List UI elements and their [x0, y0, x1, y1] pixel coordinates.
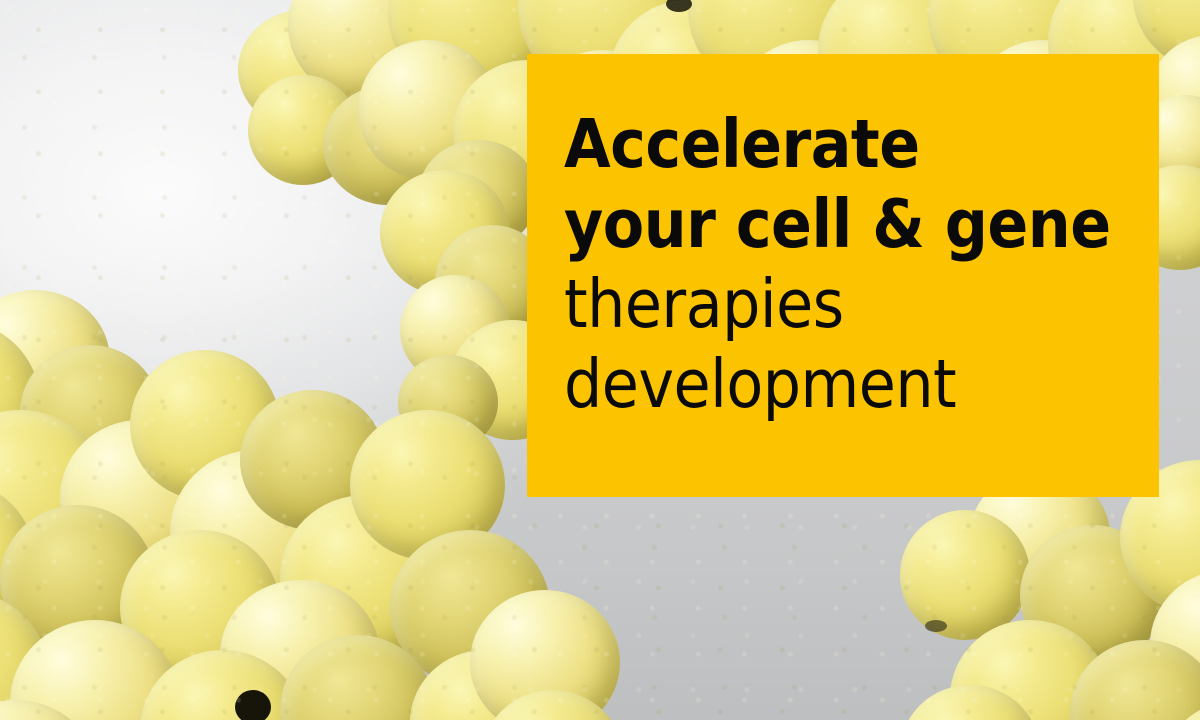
molecule-crevice — [235, 690, 271, 720]
headline-line-4: development — [564, 344, 1119, 424]
headline-line-1: Accelerate — [564, 104, 1119, 184]
headline-line-3: therapies — [564, 264, 1119, 344]
molecule-crevice — [925, 620, 947, 632]
headline-line-2: your cell & gene — [564, 184, 1119, 264]
promo-banner: Accelerate your cell & gene therapies de… — [0, 0, 1200, 720]
headline-panel: Accelerate your cell & gene therapies de… — [527, 54, 1159, 497]
molecule-cluster-bottom-right — [900, 470, 1200, 720]
page-title: Accelerate your cell & gene therapies de… — [564, 104, 1119, 424]
